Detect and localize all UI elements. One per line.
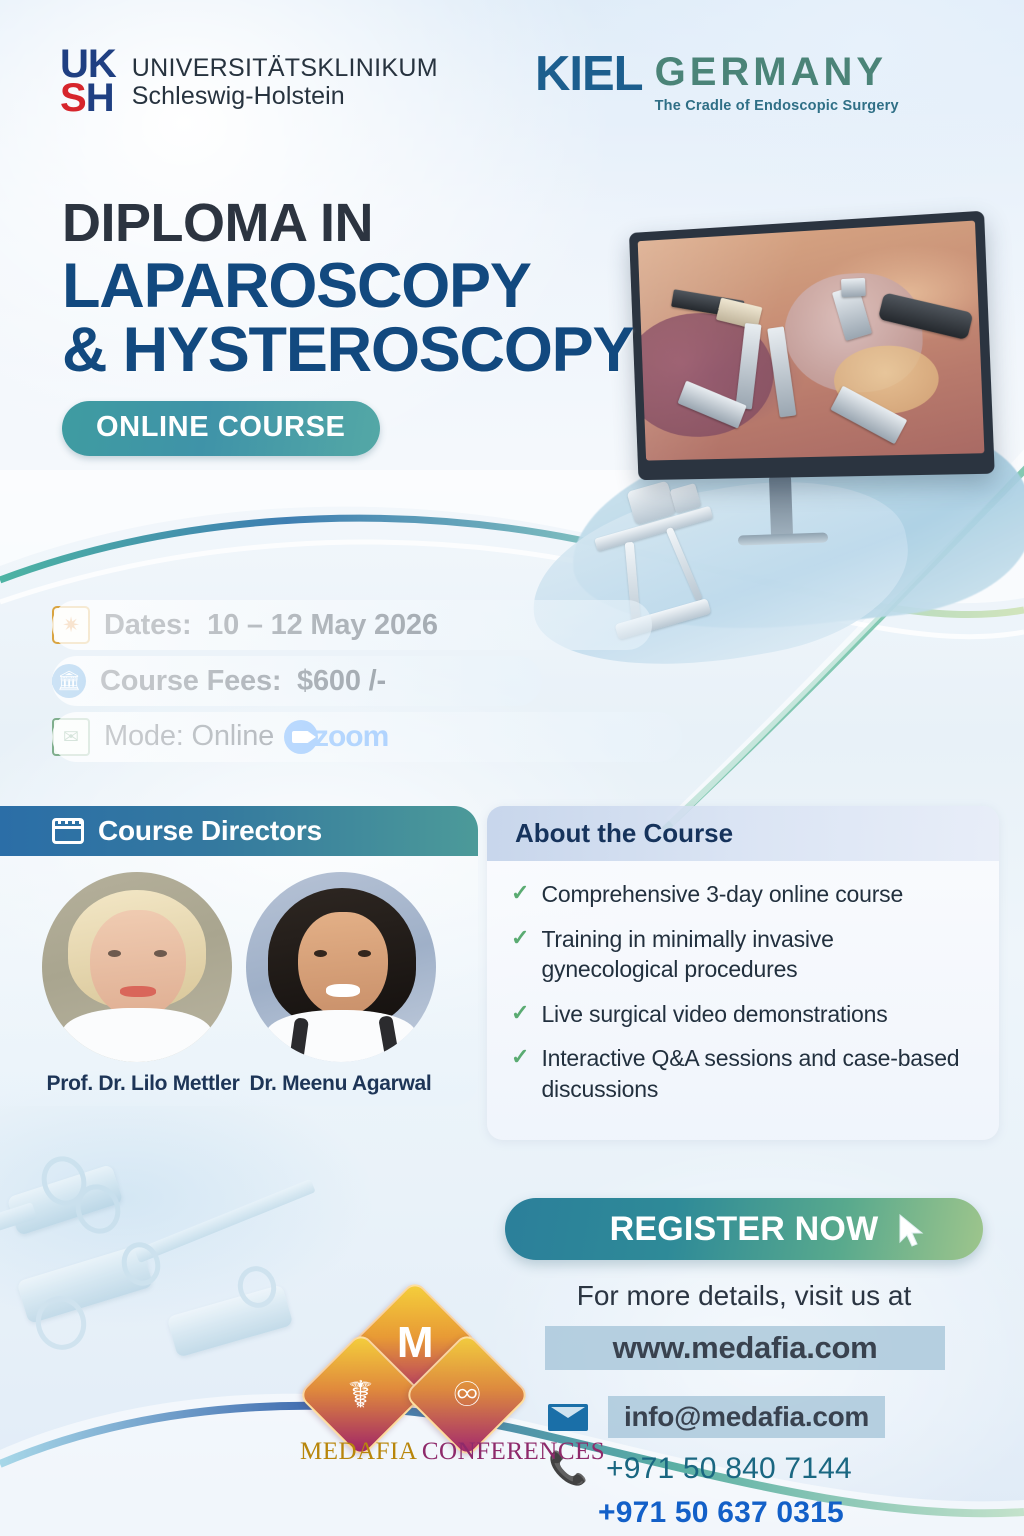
- director-name-2: Dr. Meenu Agarwal: [249, 1072, 431, 1096]
- title-line-hysteroscopy: & HYSTEROSCOPY: [62, 318, 682, 382]
- director-names: Prof. Dr. Lilo Mettler Dr. Meenu Agarwal: [0, 1072, 478, 1096]
- about-bullet-text: Interactive Q&A sessions and case-based …: [541, 1043, 975, 1104]
- laparoscopy-video-screen: [638, 221, 985, 461]
- about-bullet: ✓ Live surgical video demonstrations: [511, 999, 975, 1030]
- about-bullet: ✓ Training in minimally invasive gynecol…: [511, 924, 975, 985]
- director-photo-2: [246, 872, 436, 1062]
- kiel-wordmark: KIEL: [535, 50, 643, 99]
- about-bullet-text: Live surgical video demonstrations: [541, 999, 887, 1030]
- director-photo-1: [42, 872, 232, 1062]
- germany-wordmark: GERMANY: [655, 52, 899, 92]
- about-bullet-text: Training in minimally invasive gynecolog…: [541, 924, 975, 985]
- register-now-label: REGISTER NOW: [610, 1210, 879, 1249]
- stethoscope-icon: ♾: [452, 1375, 482, 1415]
- about-course-bullets: ✓ Comprehensive 3-day online course ✓ Tr…: [487, 861, 999, 1140]
- course-directors-card: Course Directors: [0, 806, 478, 1106]
- uksh-mark-s: S: [60, 76, 86, 120]
- poster-canvas: UK SH UNIVERSITÄTSKLINIKUM Schleswig-Hol…: [0, 0, 1024, 1536]
- fees-row-background: [52, 656, 542, 706]
- header-logos: UK SH UNIVERSITÄTSKLINIKUM Schleswig-Hol…: [0, 46, 1024, 146]
- check-icon: ✓: [511, 1043, 529, 1071]
- course-directors-heading: Course Directors: [98, 815, 322, 847]
- about-bullet: ✓ Comprehensive 3-day online course: [511, 879, 975, 910]
- about-course-heading: About the Course: [515, 818, 733, 848]
- email-highlight: info@medafia.com: [608, 1396, 885, 1438]
- about-bullet: ✓ Interactive Q&A sessions and case-base…: [511, 1043, 975, 1104]
- dates-row-background: [52, 600, 652, 650]
- website-highlight[interactable]: www.medafia.com: [545, 1326, 945, 1370]
- mouse-cursor-icon: [897, 1214, 927, 1248]
- course-directors-header: Course Directors: [0, 806, 478, 856]
- director-name-1: Prof. Dr. Lilo Mettler: [47, 1072, 240, 1096]
- laparoscopic-instruments-illustration: [0, 1150, 340, 1450]
- monitor-stand: [769, 476, 793, 537]
- website-url: www.medafia.com: [613, 1330, 878, 1366]
- course-details-block: ✷ Dates: 10 – 12 May 2026 🏛 Course Fees:…: [52, 600, 712, 768]
- uksh-name-line2: Schleswig-Holstein: [132, 82, 438, 110]
- kiel-tagline: The Cradle of Endoscopic Surgery: [655, 98, 899, 114]
- check-icon: ✓: [511, 924, 529, 952]
- about-bullet-text: Comprehensive 3-day online course: [541, 879, 903, 910]
- email-icon: [548, 1404, 588, 1431]
- poster-title-block: DIPLOMA IN LAPAROSCOPY & HYSTEROSCOPY ON…: [62, 196, 682, 456]
- course-directors-body: Prof. Dr. Lilo Mettler Dr. Meenu Agarwal: [0, 856, 478, 1106]
- email-row[interactable]: info@medafia.com: [548, 1396, 885, 1438]
- presentation-board-icon: [52, 818, 84, 844]
- phone-number-1: +971 50 840 7144: [606, 1452, 852, 1486]
- title-line-diploma: DIPLOMA IN: [62, 196, 682, 250]
- surgical-monitor: [629, 211, 995, 480]
- online-course-badge: ONLINE COURSE: [62, 401, 380, 456]
- logo-letter-m: M: [397, 1318, 434, 1368]
- email-address: info@medafia.com: [624, 1401, 869, 1432]
- medafia-word-conferences: CONFERENCES: [422, 1438, 605, 1465]
- phone-number-2: +971 50 637 0315: [598, 1496, 852, 1530]
- about-course-card: About the Course ✓ Comprehensive 3-day o…: [487, 806, 999, 1140]
- check-icon: ✓: [511, 999, 529, 1027]
- title-line-laparoscopy: LAPAROSCOPY: [62, 254, 682, 318]
- uksh-mark-h: H: [86, 76, 114, 120]
- caduceus-icon: ☤: [348, 1372, 373, 1417]
- visit-us-text: For more details, visit us at: [505, 1280, 983, 1312]
- director-portraits: [0, 872, 478, 1062]
- uksh-logo-mark: UK SH: [60, 48, 116, 115]
- check-icon: ✓: [511, 879, 529, 907]
- mode-row-background: [52, 712, 682, 762]
- register-now-button[interactable]: REGISTER NOW: [505, 1198, 983, 1260]
- uksh-name-line1: UNIVERSITÄTSKLINIKUM: [132, 54, 438, 82]
- about-course-header: About the Course: [487, 806, 999, 861]
- uksh-logo: UK SH UNIVERSITÄTSKLINIKUM Schleswig-Hol…: [60, 48, 438, 115]
- kiel-germany-logo: KIEL GERMANY The Cradle of Endoscopic Su…: [535, 50, 899, 114]
